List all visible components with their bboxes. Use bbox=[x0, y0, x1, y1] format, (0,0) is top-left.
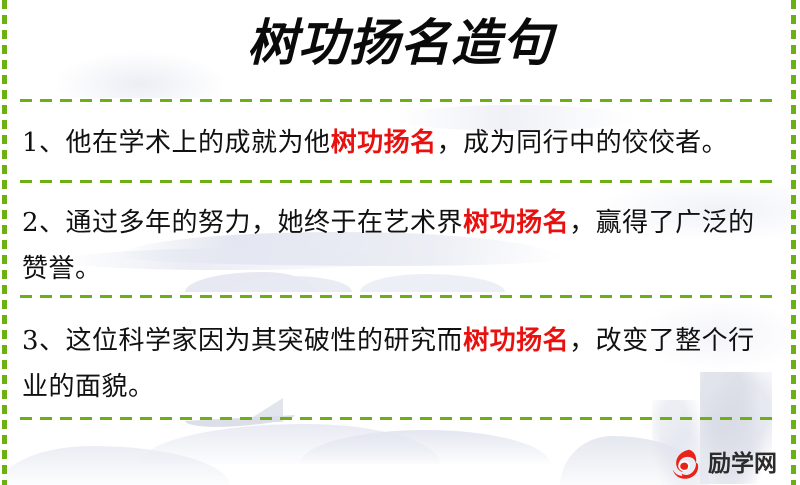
page-title: 树功扬名造句 bbox=[0, 12, 800, 74]
sentence-2-index: 2、 bbox=[22, 208, 66, 238]
dashed-separator-4 bbox=[20, 417, 780, 420]
sentence-2-keyword: 树功扬名 bbox=[463, 208, 569, 238]
sentence-1-text-after: ，成为同行中的佼佼者。 bbox=[437, 128, 729, 158]
sentence-1-keyword: 树功扬名 bbox=[331, 128, 437, 158]
sentence-3-keyword: 树功扬名 bbox=[463, 326, 569, 356]
logo-text: 励学网 bbox=[708, 451, 777, 477]
sentence-item-1: 1、他在学术上的成就为他树功扬名，成为同行中的佼佼者。 bbox=[22, 120, 776, 166]
sentence-sheet-page: 树功扬名造句 1、他在学术上的成就为他树功扬名，成为同行中的佼佼者。 2、通过多… bbox=[0, 0, 800, 485]
dashed-separator-2 bbox=[20, 180, 780, 183]
dashed-separator-3 bbox=[20, 295, 780, 298]
hill-wash-f bbox=[0, 446, 230, 485]
sentence-item-2: 2、通过多年的努力，她终于在艺术界树功扬名，赢得了广泛的赞誉。 bbox=[22, 200, 776, 292]
sentence-3-text-before: 这位科学家因为其突破性的研究而 bbox=[66, 326, 464, 356]
sentence-1-index: 1、 bbox=[22, 128, 66, 158]
site-logo[interactable]: 励学网 bbox=[668, 446, 792, 482]
sentence-1-text-before: 他在学术上的成就为他 bbox=[66, 128, 331, 158]
sentence-3-index: 3、 bbox=[22, 326, 66, 356]
flame-swirl-icon bbox=[668, 447, 702, 481]
dashed-separator-1 bbox=[20, 99, 780, 102]
hill-wash-e bbox=[300, 430, 550, 464]
sentence-item-3: 3、这位科学家因为其突破性的研究而树功扬名，改变了整个行业的面貌。 bbox=[22, 318, 776, 410]
sentence-2-text-before: 通过多年的努力，她终于在艺术界 bbox=[66, 208, 464, 238]
hill-wash-d bbox=[140, 424, 440, 464]
